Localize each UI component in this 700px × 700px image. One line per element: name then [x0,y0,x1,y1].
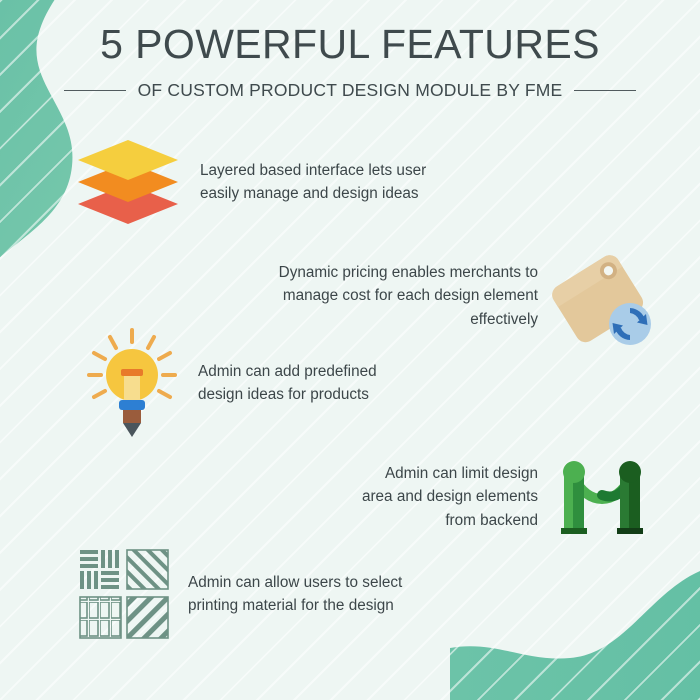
subtitle-rule-left [64,90,126,91]
feature-item-3: Admin can add predefined design ideas fo… [84,328,377,438]
poster-header: 5 POWERFUL FEATURES OF CUSTOM PRODUCT DE… [0,0,700,101]
title-count: 5 [100,21,135,67]
rope-barrier-icon [552,454,652,540]
price-tag-sync-icon [552,244,656,348]
bottom-right-wave-decoration [450,530,700,700]
subtitle-rule-right [574,90,636,91]
feature-item-5: Admin can allow users to select printing… [78,548,402,640]
title-main: POWERFUL FEATURES [135,21,600,67]
page-subtitle: OF CUSTOM PRODUCT DESIGN MODULE BY FME [138,80,563,101]
layers-icon [74,138,182,226]
lightbulb-pencil-icon [84,328,180,438]
page-title: 5 POWERFUL FEATURES [0,22,700,67]
infographic-poster: 5 POWERFUL FEATURES OF CUSTOM PRODUCT DE… [0,0,700,700]
subtitle-row: OF CUSTOM PRODUCT DESIGN MODULE BY FME [0,80,700,101]
material-swatches-icon [78,548,170,640]
feature-3-text: Admin can add predefined design ideas fo… [198,360,377,407]
feature-4-text: Admin can limit design area and design e… [362,462,538,532]
feature-5-text: Admin can allow users to select printing… [188,571,402,618]
feature-1-text: Layered based interface lets user easily… [200,159,426,206]
feature-2-text: Dynamic pricing enables merchants to man… [279,261,538,331]
feature-item-1: Layered based interface lets user easily… [74,138,426,226]
feature-item-4: Admin can limit design area and design e… [362,454,652,540]
